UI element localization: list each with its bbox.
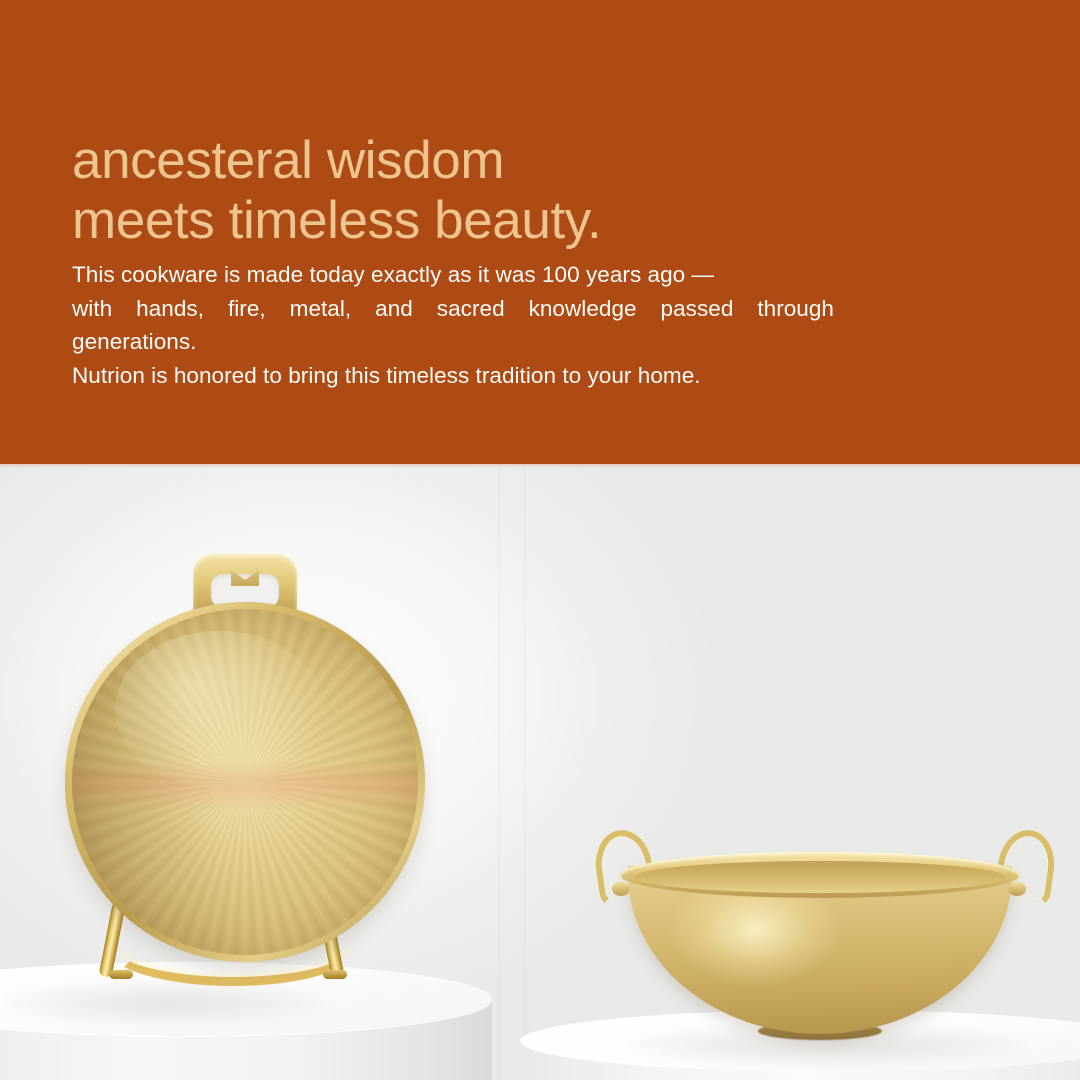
backdrop-edge-right [524,464,527,1080]
kadai-lug-right [1008,882,1026,896]
plate-stand-foot-left [109,970,133,979]
plate-rim [65,602,425,962]
plate-shadow-edge [65,602,425,962]
backdrop-edge-left [498,464,501,1080]
plate-highlight [115,631,324,789]
headline-band: ancesteral wisdom meets timeless beauty.… [0,0,1080,464]
brass-thali-plate [55,540,435,980]
body-line-4: Nutrion is honored to bring this timeles… [72,359,834,393]
product-photograph [0,464,1080,1080]
backdrop-seam [0,464,1080,470]
kadai-rim-inner [634,861,1006,893]
body-line-1: This cookware is made today exactly as i… [72,258,834,292]
kadai-lug-left [612,882,630,896]
pedestal-left-contact-shadow [0,980,330,1026]
plate-stand-foot-right [323,970,347,979]
body-line-2: with hands, fire, metal, and sacred know… [72,292,834,326]
body-line-3: generations. [72,325,834,359]
page-title: ancesteral wisdom meets timeless beauty. [72,131,972,251]
plate-disc [65,602,425,962]
brass-kadai-bowl [590,836,1050,1036]
body-copy: This cookware is made today exactly as i… [72,258,834,392]
promo-poster: ancesteral wisdom meets timeless beauty.… [0,0,1080,1080]
